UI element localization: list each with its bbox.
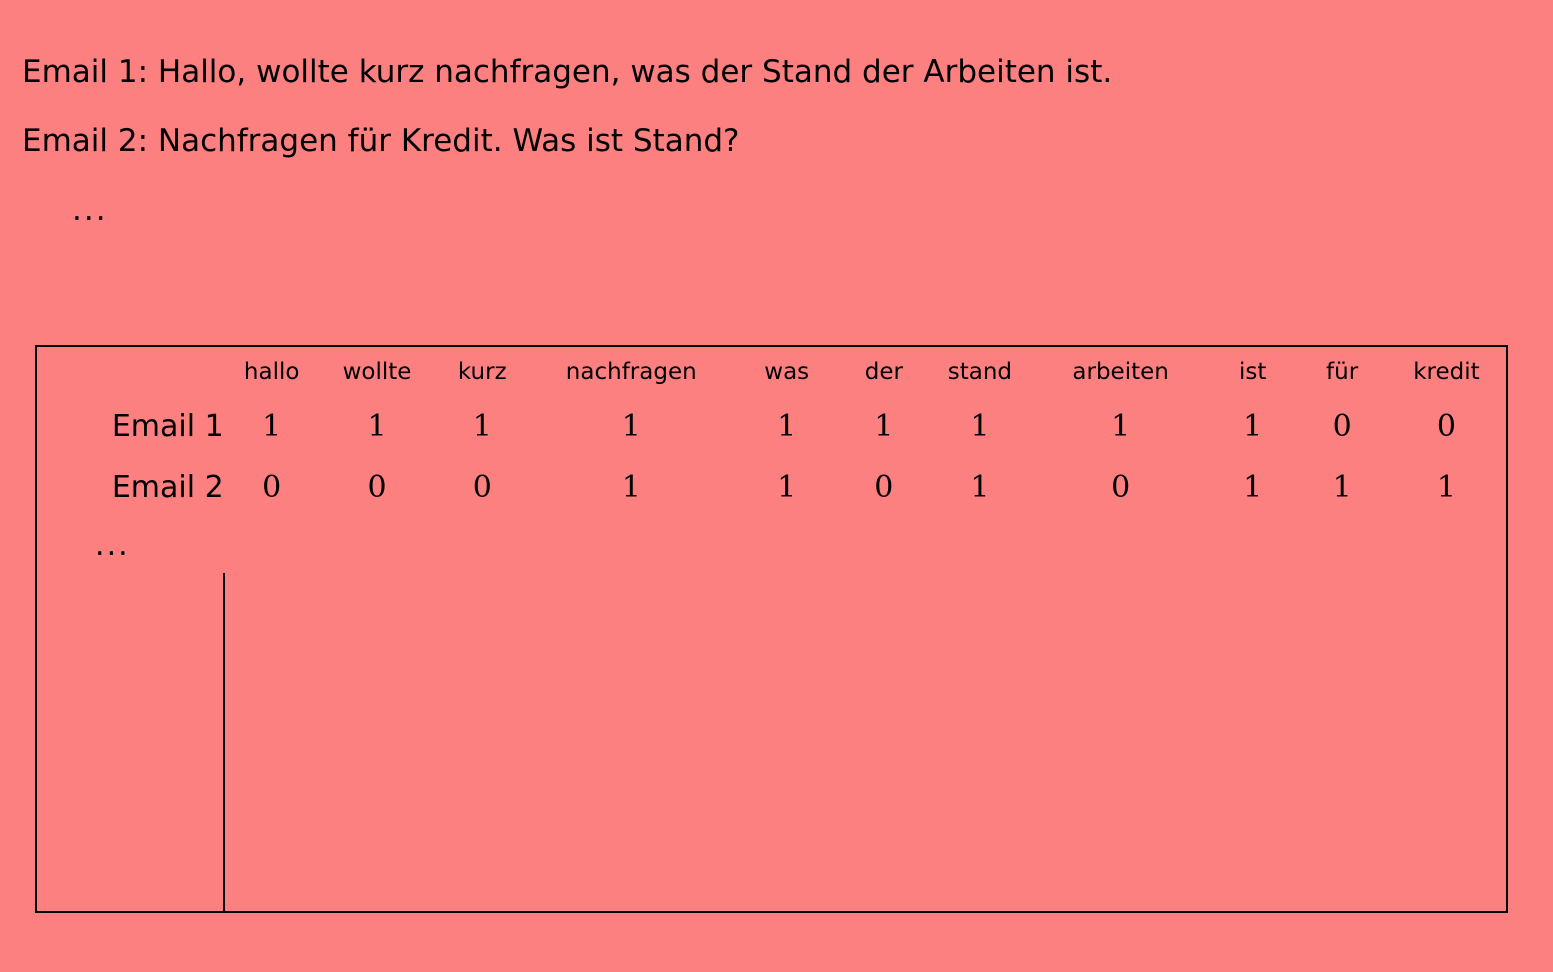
cell-email2-wollte: 0 <box>320 457 435 518</box>
cell-email2-nachfragen: 1 <box>530 457 732 518</box>
cell-email2-hallo: 0 <box>224 457 320 518</box>
cell-email1-nachfragen: 1 <box>530 396 732 457</box>
column-header-nachfragen: nachfragen <box>530 346 732 396</box>
cell-empty <box>732 573 841 912</box>
intro-line-email-2: Email 2: Nachfragen für Kredit. Was ist … <box>22 107 1522 176</box>
matrix-table: hallo wollte kurz nachfragen was der sta… <box>35 345 1508 913</box>
cell-email1-wollte: 1 <box>320 396 435 457</box>
matrix-header-row: hallo wollte kurz nachfragen was der sta… <box>36 346 1507 396</box>
matrix-corner-cell <box>36 346 224 396</box>
column-header-kredit: kredit <box>1387 346 1507 396</box>
column-header-arbeiten: arbeiten <box>1033 346 1208 396</box>
cell-empty <box>1387 518 1507 573</box>
cell-empty <box>320 518 435 573</box>
cell-empty <box>1208 518 1297 573</box>
cell-email2-der: 0 <box>841 457 926 518</box>
cell-email1-stand: 1 <box>926 396 1033 457</box>
intro-text-block: Email 1: Hallo, wollte kurz nachfragen, … <box>22 38 1522 245</box>
cell-empty <box>1387 573 1507 912</box>
column-header-hallo: hallo <box>224 346 320 396</box>
table-row-filler <box>36 573 1507 912</box>
intro-line-email-1: Email 1: Hallo, wollte kurz nachfragen, … <box>22 38 1522 107</box>
cell-empty <box>926 573 1033 912</box>
column-header-kurz: kurz <box>434 346 530 396</box>
cell-empty <box>434 573 530 912</box>
page-root: Email 1: Hallo, wollte kurz nachfragen, … <box>0 0 1553 972</box>
column-header-wollte: wollte <box>320 346 435 396</box>
cell-email2-ist: 1 <box>1208 457 1297 518</box>
cell-empty <box>841 573 926 912</box>
cell-email2-stand: 1 <box>926 457 1033 518</box>
cell-empty <box>732 518 841 573</box>
cell-email1-arbeiten: 1 <box>1033 396 1208 457</box>
cell-empty <box>1297 518 1386 573</box>
cell-email1-kredit: 0 <box>1387 396 1507 457</box>
cell-empty <box>320 573 435 912</box>
cell-email1-der: 1 <box>841 396 926 457</box>
column-header-stand: stand <box>926 346 1033 396</box>
cell-empty <box>530 518 732 573</box>
matrix-body: Email 1 1 1 1 1 1 1 1 1 1 0 0 Email 2 0 … <box>36 396 1507 912</box>
row-header-email-2: Email 2 <box>36 457 224 518</box>
cell-empty <box>841 518 926 573</box>
document-term-matrix: hallo wollte kurz nachfragen was der sta… <box>35 345 1508 913</box>
cell-email2-arbeiten: 0 <box>1033 457 1208 518</box>
column-header-ist: ist <box>1208 346 1297 396</box>
cell-empty <box>1208 573 1297 912</box>
matrix-header: hallo wollte kurz nachfragen was der sta… <box>36 346 1507 396</box>
row-header-filler <box>36 573 224 912</box>
cell-email1-ist: 1 <box>1208 396 1297 457</box>
cell-empty <box>1297 573 1386 912</box>
cell-empty <box>926 518 1033 573</box>
cell-email2-kurz: 0 <box>434 457 530 518</box>
cell-email1-kurz: 1 <box>434 396 530 457</box>
cell-empty <box>530 573 732 912</box>
cell-email2-fuer: 1 <box>1297 457 1386 518</box>
cell-empty <box>224 518 320 573</box>
column-header-was: was <box>732 346 841 396</box>
cell-empty <box>434 518 530 573</box>
column-header-fuer: für <box>1297 346 1386 396</box>
cell-email1-fuer: 0 <box>1297 396 1386 457</box>
row-header-ellipsis: ... <box>36 518 224 573</box>
cell-email2-was: 1 <box>732 457 841 518</box>
cell-email1-hallo: 1 <box>224 396 320 457</box>
cell-email2-kredit: 1 <box>1387 457 1507 518</box>
column-header-der: der <box>841 346 926 396</box>
intro-ellipsis: ... <box>22 176 1522 245</box>
table-row-continuation: ... <box>36 518 1507 573</box>
cell-empty <box>1033 573 1208 912</box>
cell-empty <box>1033 518 1208 573</box>
row-header-email-1: Email 1 <box>36 396 224 457</box>
cell-empty <box>224 573 320 912</box>
table-row: Email 2 0 0 0 1 1 0 1 0 1 1 1 <box>36 457 1507 518</box>
table-row: Email 1 1 1 1 1 1 1 1 1 1 0 0 <box>36 396 1507 457</box>
cell-email1-was: 1 <box>732 396 841 457</box>
